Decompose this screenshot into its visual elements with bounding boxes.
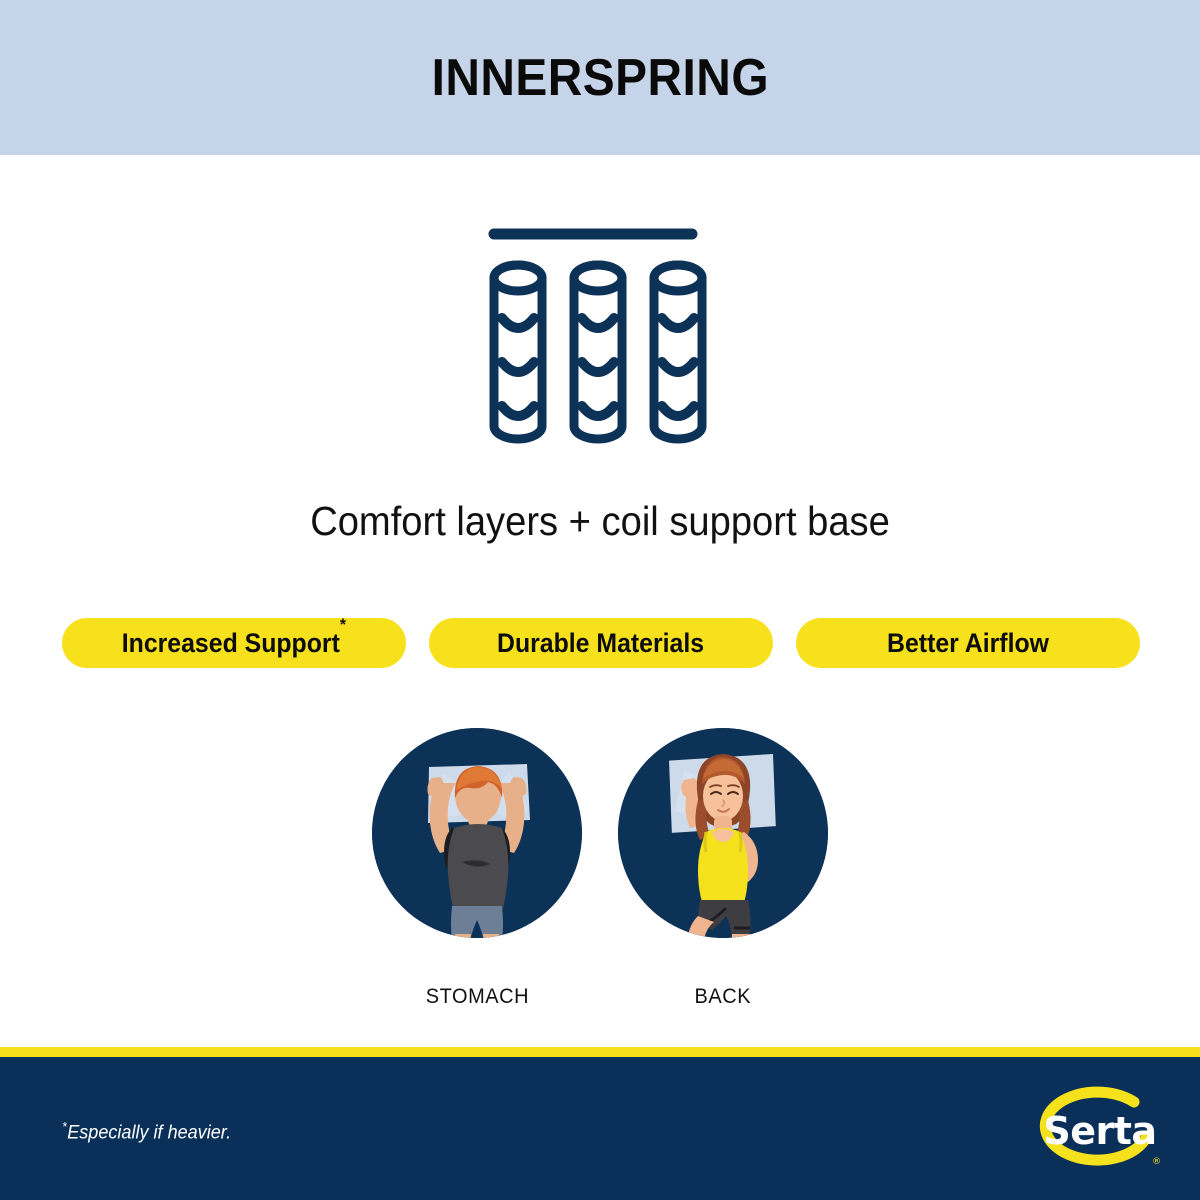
feature-pill-label: Durable Materials bbox=[497, 627, 704, 659]
feature-pill-increased-support[interactable]: Increased Support* bbox=[62, 618, 406, 668]
sleep-position-back[interactable]: BACK bbox=[618, 728, 828, 1009]
footnote-marker: * bbox=[340, 615, 346, 634]
serta-logo-swoosh-icon: ® bbox=[1034, 1084, 1166, 1180]
feature-pill-text: Durable Materials bbox=[497, 628, 704, 658]
footnote-body: Especially if heavier. bbox=[67, 1122, 231, 1143]
sleeper-circle-back bbox=[618, 728, 828, 938]
coil-springs-icon bbox=[480, 222, 720, 447]
svg-text:®: ® bbox=[1152, 1157, 1161, 1167]
sleep-position-row: STOMACH bbox=[0, 728, 1200, 1009]
sleeper-circle-stomach bbox=[372, 728, 582, 938]
woman-back-sleeper-illustration bbox=[618, 728, 828, 938]
sleep-position-stomach[interactable]: STOMACH bbox=[372, 728, 582, 1009]
sleep-position-label: STOMACH bbox=[425, 985, 528, 1009]
page-header: INNERSPRING bbox=[0, 0, 1200, 155]
feature-pill-label: Increased Support* bbox=[122, 627, 346, 659]
footnote-text: *Especially if heavier. bbox=[62, 1119, 231, 1144]
sleep-position-label: BACK bbox=[695, 985, 752, 1009]
feature-pill-row: Increased Support* Durable Materials Bet… bbox=[62, 618, 1140, 668]
feature-pill-better-airflow[interactable]: Better Airflow bbox=[796, 618, 1140, 668]
hero-icon-container bbox=[0, 222, 1200, 452]
serta-logo[interactable]: ® Serta bbox=[1034, 1084, 1166, 1180]
feature-pill-durable-materials[interactable]: Durable Materials bbox=[429, 618, 773, 668]
hero-tagline: Comfort layers + coil support base bbox=[42, 498, 1158, 545]
footer-accent-bar bbox=[0, 1047, 1200, 1057]
page-title: INNERSPRING bbox=[431, 48, 768, 108]
feature-pill-text: Increased Support bbox=[122, 628, 340, 658]
man-stomach-sleeper-illustration bbox=[372, 728, 582, 938]
feature-pill-text: Better Airflow bbox=[887, 628, 1049, 658]
feature-pill-label: Better Airflow bbox=[887, 627, 1049, 659]
